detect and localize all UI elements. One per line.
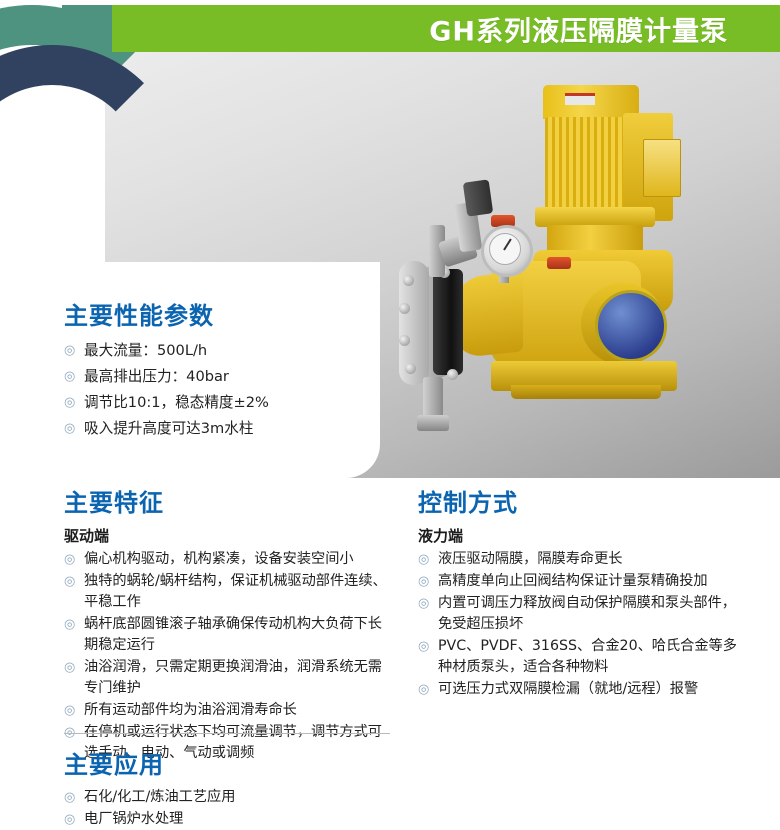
pump-head-diaphragm [433, 269, 463, 375]
list-item-text: 液压驱动隔膜，隔膜寿命更长 [438, 551, 622, 567]
flange-bolt [399, 335, 410, 346]
list-item-text: 蜗杆底部圆锥滚子轴承确保传动机构大负荷下长期稳定运行 [84, 616, 382, 653]
specs-title: 主要性能参数 [64, 296, 384, 331]
product-spec-sheet: GH系列液压隔膜计量泵 主要性能参数 ◎最大流量：500L/h ◎最高排出压力：… [0, 0, 780, 830]
list-item: ◎吸入提升高度可达3m水柱 [64, 416, 384, 442]
flange-bolt [405, 363, 416, 374]
list-item-text: 电厂锅炉水处理 [84, 811, 183, 827]
bullet-icon: ◎ [64, 614, 75, 635]
list-item-text: 可选压力式双隔膜检漏（就地/远程）报警 [438, 681, 698, 697]
list-item: ◎石化/化工/炼油工艺应用 [64, 787, 464, 808]
list-item: ◎独特的蜗轮/蜗杆结构，保证机械驱动部件连续、平稳工作 [64, 571, 390, 613]
specs-section: 主要性能参数 ◎最大流量：500L/h ◎最高排出压力：40bar ◎调节比10… [64, 296, 384, 442]
bullet-icon: ◎ [418, 571, 429, 592]
bullet-icon: ◎ [64, 390, 75, 416]
list-item: ◎液压驱动隔膜，隔膜寿命更长 [418, 549, 748, 570]
list-item-text: 独特的蜗轮/蜗杆结构，保证机械驱动部件连续、平稳工作 [84, 573, 387, 610]
bullet-icon: ◎ [418, 636, 429, 657]
features-list: ◎偏心机构驱动，机构紧凑，设备安装空间小 ◎独特的蜗轮/蜗杆结构，保证机械驱动部… [64, 549, 390, 764]
bullet-icon: ◎ [418, 549, 429, 570]
applications-divider [64, 733, 390, 734]
motor-junction-box [643, 139, 681, 197]
bullet-icon: ◎ [64, 338, 75, 364]
bullet-icon: ◎ [418, 679, 429, 700]
list-item: ◎所有运动部件均为油浴润滑寿命长 [64, 700, 390, 721]
bullet-icon: ◎ [64, 416, 75, 442]
list-item: ◎最高排出压力：40bar [64, 364, 384, 390]
list-item-text: 调节比10:1，稳态精度±2% [84, 394, 269, 411]
flange-bolt [447, 369, 458, 380]
applications-section: 主要应用 ◎石化/化工/炼油工艺应用 ◎电厂锅炉水处理 [64, 745, 464, 830]
relief-valve-top [463, 179, 493, 216]
features-subtitle: 驱动端 [64, 525, 390, 546]
list-item: ◎可选压力式双隔膜检漏（就地/远程）报警 [418, 679, 748, 700]
pump-body-cone [453, 271, 523, 358]
red-knob [547, 257, 571, 269]
list-item-text: 高精度单向止回阀结构保证计量泵精确投加 [438, 573, 708, 589]
list-item-text: 内置可调压力释放阀自动保护隔膜和泵头部件，免受超压损坏 [438, 595, 736, 632]
bullet-icon: ◎ [64, 787, 75, 808]
page-title: GH系列液压隔膜计量泵 [429, 9, 728, 48]
bullet-icon: ◎ [418, 593, 429, 614]
motor-flange [535, 207, 655, 227]
list-item: ◎蜗杆底部圆锥滚子轴承确保传动机构大负荷下长期稳定运行 [64, 614, 390, 656]
bullet-icon: ◎ [64, 700, 75, 721]
list-item: ◎偏心机构驱动，机构紧凑，设备安装空间小 [64, 549, 390, 570]
bullet-icon: ◎ [64, 364, 75, 390]
list-item-text: 最大流量：500L/h [84, 342, 207, 359]
discharge-nut [417, 415, 449, 431]
list-item: ◎油浴润滑，只需定期更换润滑油，润滑系统无需专门维护 [64, 657, 390, 699]
bullet-icon: ◎ [64, 549, 75, 570]
control-title: 控制方式 [418, 483, 748, 518]
flange-bolt [399, 303, 410, 314]
list-item: ◎最大流量：500L/h [64, 338, 384, 364]
list-item: ◎电厂锅炉水处理 [64, 809, 464, 830]
applications-title: 主要应用 [64, 745, 464, 780]
list-item: ◎高精度单向止回阀结构保证计量泵精确投加 [418, 571, 748, 592]
list-item-text: PVC、PVDF、316SS、合金20、哈氏合金等多种材质泵头，适合各种物料 [438, 638, 737, 675]
bullet-icon: ◎ [64, 571, 75, 592]
list-item-text: 偏心机构驱动，机构紧凑，设备安装空间小 [84, 551, 354, 567]
motor-nameplate [565, 93, 595, 105]
list-item-text: 油浴润滑，只需定期更换润滑油，润滑系统无需专门维护 [84, 659, 382, 696]
features-section: 主要特征 驱动端 ◎偏心机构驱动，机构紧凑，设备安装空间小 ◎独特的蜗轮/蜗杆结… [64, 483, 390, 765]
control-subtitle: 液力端 [418, 525, 748, 546]
specs-list: ◎最大流量：500L/h ◎最高排出压力：40bar ◎调节比10:1，稳态精度… [64, 338, 384, 442]
list-item-text: 吸入提升高度可达3m水柱 [84, 420, 253, 437]
list-item: ◎内置可调压力释放阀自动保护隔膜和泵头部件，免受超压损坏 [418, 593, 748, 635]
control-section: 控制方式 液力端 ◎液压驱动隔膜，隔膜寿命更长 ◎高精度单向止回阀结构保证计量泵… [418, 483, 748, 701]
applications-list: ◎石化/化工/炼油工艺应用 ◎电厂锅炉水处理 [64, 787, 464, 830]
list-item-text: 石化/化工/炼油工艺应用 [84, 789, 235, 805]
list-item: ◎PVC、PVDF、316SS、合金20、哈氏合金等多种材质泵头，适合各种物料 [418, 636, 748, 678]
control-list: ◎液压驱动隔膜，隔膜寿命更长 ◎高精度单向止回阀结构保证计量泵精确投加 ◎内置可… [418, 549, 748, 700]
features-title: 主要特征 [64, 483, 390, 518]
list-item-text: 所有运动部件均为油浴润滑寿命长 [84, 702, 297, 718]
flange-bolt [403, 275, 414, 286]
list-item-text: 最高排出压力：40bar [84, 368, 229, 385]
header-banner: GH系列液压隔膜计量泵 [112, 5, 780, 52]
bullet-icon: ◎ [64, 657, 75, 678]
list-item: ◎调节比10:1，稳态精度±2% [64, 390, 384, 416]
bullet-icon: ◎ [64, 809, 75, 830]
